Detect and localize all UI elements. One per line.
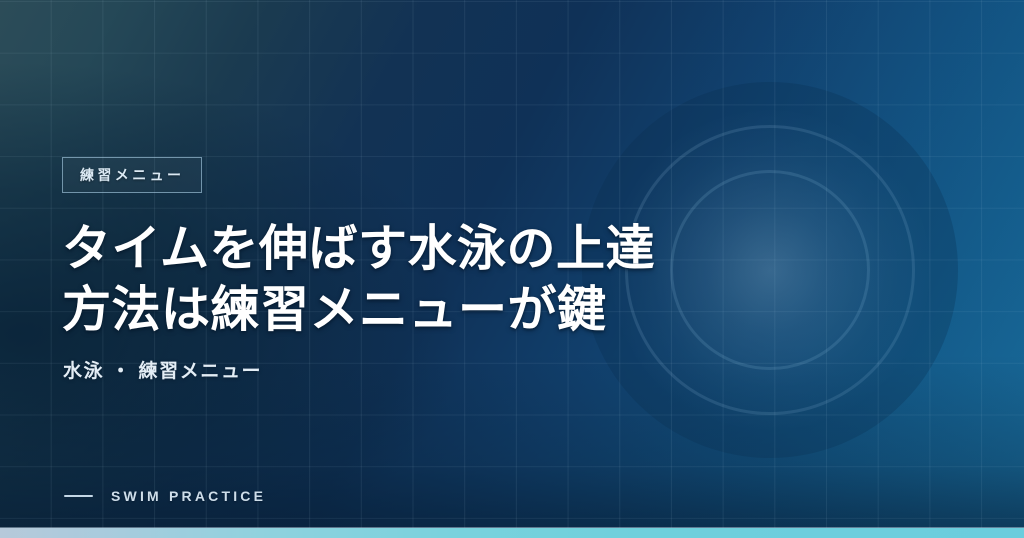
- page-subtitle: 水泳 ・ 練習メニュー: [63, 356, 262, 383]
- page-title: タイムを伸ばす水泳の上達 方法は練習メニューが鍵: [62, 218, 762, 340]
- accent-band: [0, 528, 1024, 538]
- hero-banner: 練習メニュー タイムを伸ばす水泳の上達 方法は練習メニューが鍵 水泳 ・ 練習メ…: [0, 0, 1024, 538]
- hero-content: 練習メニュー タイムを伸ばす水泳の上達 方法は練習メニューが鍵 水泳 ・ 練習メ…: [62, 0, 782, 538]
- page-title-line-1: タイムを伸ばす水泳の上達: [62, 218, 762, 279]
- horizontal-dash-icon: [64, 495, 93, 497]
- category-badge[interactable]: 練習メニュー: [62, 157, 202, 193]
- footer-mark-label: SWIM PRACTICE: [111, 488, 266, 504]
- footer-mark: SWIM PRACTICE: [64, 488, 266, 504]
- page-title-line-2: 方法は練習メニューが鍵: [62, 279, 762, 340]
